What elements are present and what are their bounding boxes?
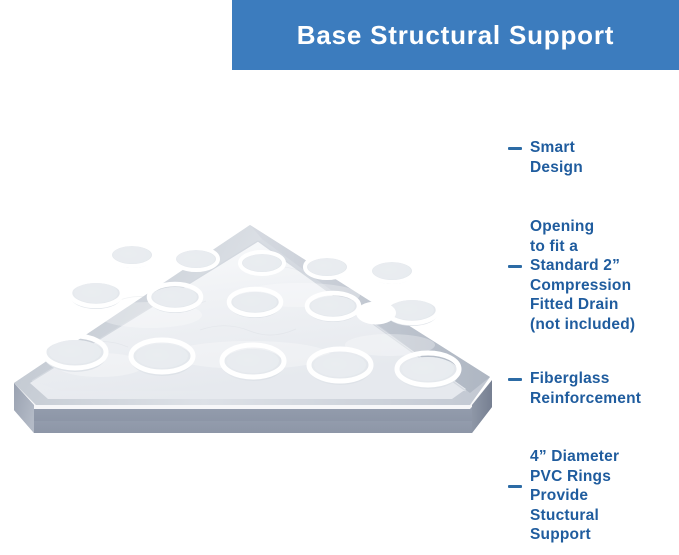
pvc-ring [131,340,193,376]
pvc-ring [307,293,359,322]
callout-fiberglass-label: Fiberglass Reinforcement [530,369,641,408]
pvc-ring [397,353,459,389]
drain-opening [356,302,396,325]
pvc-ring [222,345,284,381]
infographic-canvas: Base Structural Support [0,0,679,555]
callout-dash-icon [508,378,522,381]
callout-drain-opening: Opening to fit a Standard 2” Compression… [508,217,635,334]
callout-dash-icon [508,147,522,150]
pvc-ring [240,252,284,276]
pvc-ring [305,256,349,280]
callout-fiberglass-reinforcement: Fiberglass Reinforcement [508,369,641,408]
shower-base-illustration [0,195,520,440]
pvc-ring [149,284,201,313]
callout-smart-design: Smart Design [508,138,583,177]
pvc-ring [309,349,371,385]
pvc-ring [70,280,122,309]
callout-smart-design-label: Smart Design [530,138,583,177]
callout-dash-icon [508,265,522,268]
pvc-ring [174,248,218,272]
callout-pvc-rings: 4” Diameter PVC Rings Provide Stuctural … [508,447,619,545]
pvc-ring [370,260,414,284]
callout-drain-opening-label: Opening to fit a Standard 2” Compression… [530,217,635,334]
pvc-ring [44,336,106,372]
page-title: Base Structural Support [297,20,614,51]
callout-dash-icon [508,485,522,488]
pvc-ring [229,289,281,318]
pvc-ring [110,244,154,268]
product-image [0,195,520,440]
callout-pvc-rings-label: 4” Diameter PVC Rings Provide Stuctural … [530,447,619,545]
header-banner: Base Structural Support [232,0,679,70]
